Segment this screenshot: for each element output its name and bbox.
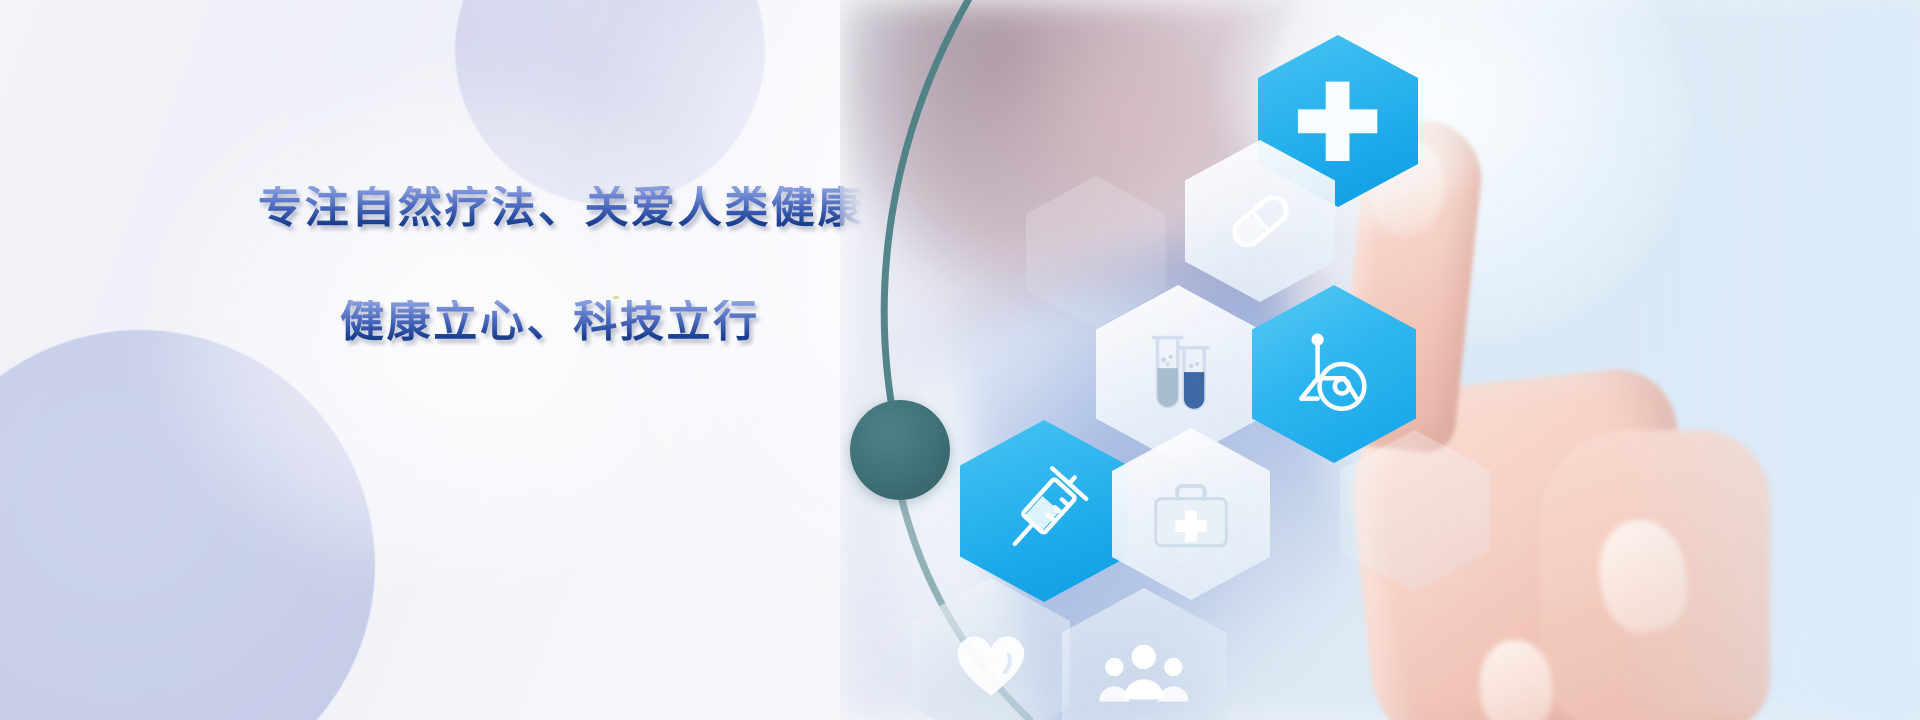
headline-line-1: 专注自然疗法、关爱人类健康 [258, 186, 898, 230]
test-tubes-icon [1127, 319, 1229, 429]
headline-block: 专注自然疗法、关爱人类健康 健康立心、科技立行 [258, 186, 898, 344]
medical-cross-icon [1288, 68, 1387, 175]
capsule-pill-icon [1214, 171, 1307, 271]
people-group-icon [1093, 622, 1195, 720]
medical-kit-icon [1142, 461, 1240, 568]
teal-accent-dot [850, 400, 950, 500]
headline-line-2: 健康立心、科技立行 [340, 300, 898, 344]
hero-banner: 专注自然疗法、关爱人类健康 健康立心、科技立行 [0, 0, 1920, 720]
heart-icon [942, 611, 1040, 718]
photo-right-light [1620, 0, 1920, 720]
wheelchair-icon [1283, 319, 1385, 429]
hero-photo [840, 0, 1920, 720]
syringe-icon [992, 455, 1096, 568]
